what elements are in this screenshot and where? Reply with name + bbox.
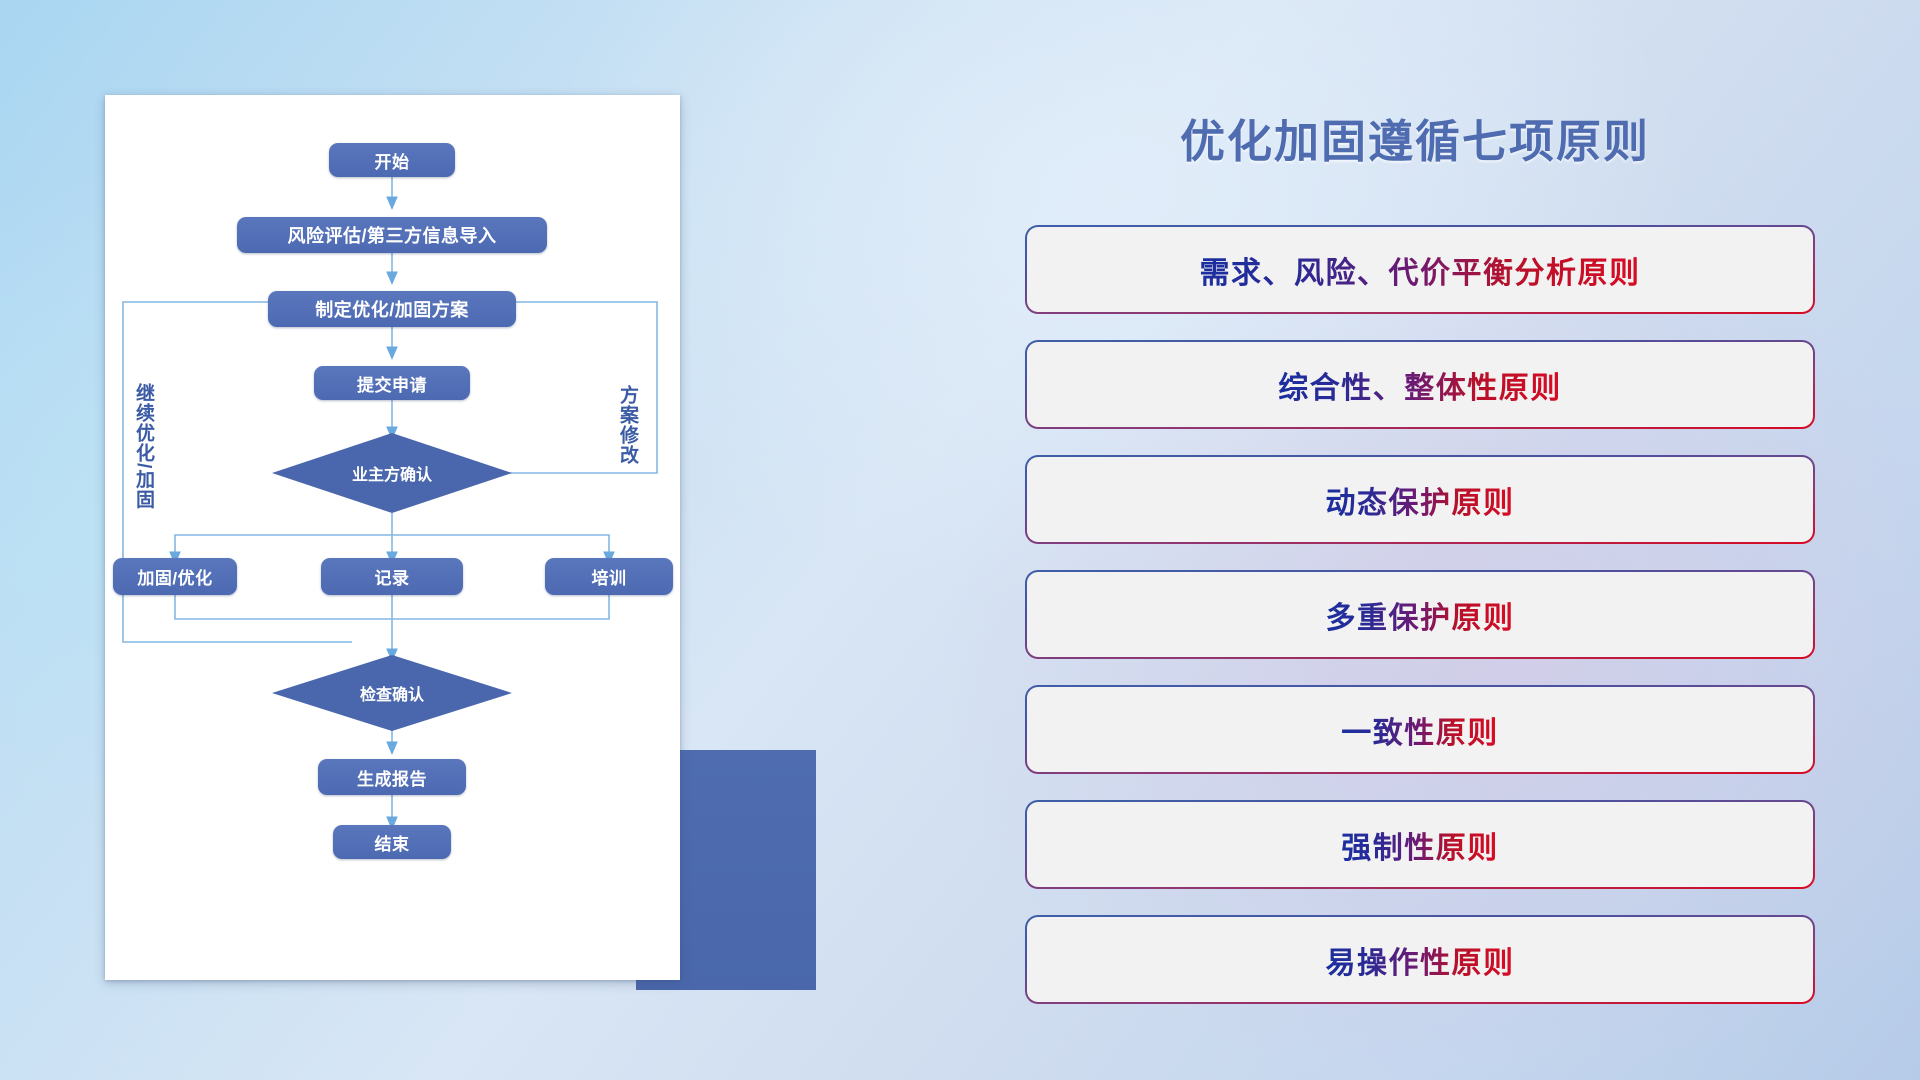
principle-label: 一致性原则 [1341,708,1499,752]
flow-node-label: 生成报告 [357,765,427,790]
flow-node-owner-confirm[interactable]: 业主方确认 [272,433,512,513]
principle-label: 易操作性原则 [1326,938,1515,982]
principle-label: 多重保护原则 [1326,593,1515,637]
flow-node-report[interactable]: 生成报告 [318,759,466,795]
principle-card-7[interactable]: 易操作性原则 [1025,915,1815,1004]
principle-card-3[interactable]: 动态保护原则 [1025,455,1815,544]
flowchart-card: 开始 风险评估/第三方信息导入 制定优化/加固方案 提交申请 业主方确认 加固/… [105,95,680,980]
principle-card-1[interactable]: 需求、风险、代价平衡分析原则 [1025,225,1815,314]
principle-label: 动态保护原则 [1326,478,1515,522]
flow-node-reinforce[interactable]: 加固/优化 [113,558,237,595]
flow-node-label: 加固/优化 [137,564,212,589]
flow-node-plan[interactable]: 制定优化/加固方案 [268,291,516,327]
flow-node-label: 记录 [375,564,410,589]
principle-card-2[interactable]: 综合性、整体性原则 [1025,340,1815,429]
principle-label: 强制性原则 [1341,823,1499,867]
principles-panel: 优化加固遵循七项原则 需求、风险、代价平衡分析原则 综合性、整体性原则 动态保护… [1010,80,1820,1030]
flow-node-training[interactable]: 培训 [545,558,673,595]
flow-node-check-confirm[interactable]: 检查确认 [272,655,512,731]
flow-node-submit[interactable]: 提交申请 [314,366,470,400]
flow-node-label: 制定优化/加固方案 [315,296,469,322]
principle-label: 综合性、整体性原则 [1278,363,1562,407]
principle-label: 需求、风险、代价平衡分析原则 [1200,248,1641,292]
flow-node-risk-assessment[interactable]: 风险评估/第三方信息导入 [237,217,547,253]
principles-list: 需求、风险、代价平衡分析原则 综合性、整体性原则 动态保护原则 多重保护原则 一… [1025,225,1815,1030]
flow-node-label: 结束 [375,830,410,855]
flow-node-label: 风险评估/第三方信息导入 [288,222,497,248]
principle-card-6[interactable]: 强制性原则 [1025,800,1815,889]
flow-node-end[interactable]: 结束 [333,825,451,859]
flow-node-record[interactable]: 记录 [321,558,463,595]
flow-node-label: 提交申请 [357,371,427,396]
flow-edge-label-right-loop: 方案修改 [617,385,637,515]
panel-title: 优化加固遵循七项原则 [1010,105,1820,170]
principle-card-4[interactable]: 多重保护原则 [1025,570,1815,659]
principle-card-5[interactable]: 一致性原则 [1025,685,1815,774]
flow-node-label: 开始 [375,148,410,173]
flow-edge-label-left-loop: 继续优化/加固 [133,383,153,543]
flow-node-start[interactable]: 开始 [329,143,455,177]
flow-node-label: 培训 [592,564,627,589]
